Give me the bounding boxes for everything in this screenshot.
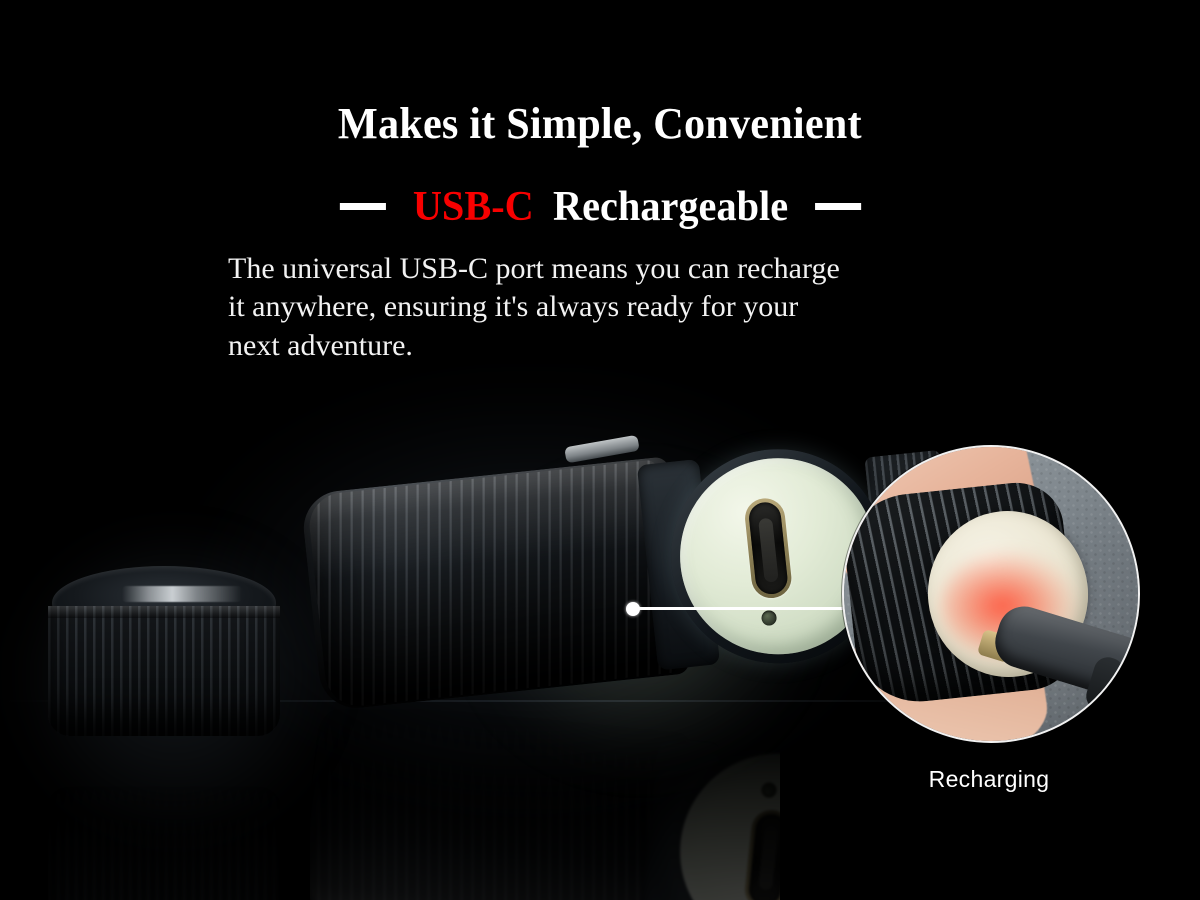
inset-caption: Recharging <box>842 766 1136 793</box>
callout-line <box>638 607 864 610</box>
body-copy-line-1: The universal USB-C port means you can r… <box>228 250 1038 288</box>
flashlight-ribs <box>306 459 678 709</box>
product-feature-banner: Makes it Simple, Convenient USB-C Rechar… <box>0 0 1200 900</box>
flashlight-tailcap <box>48 566 280 762</box>
body-copy-line-3: next adventure. <box>228 327 1038 365</box>
tailcap-engraving <box>122 586 242 602</box>
headline-highlight-usbc: USB-C <box>412 186 533 228</box>
tailcap-knurling <box>48 606 280 736</box>
decorative-dash-right <box>815 203 861 210</box>
usb-c-port-cavity <box>748 501 789 596</box>
body-copy: The universal USB-C port means you can r… <box>228 250 1038 365</box>
headline-primary-text: Makes it Simple, Convenient <box>338 98 862 149</box>
usb-c-port-tongue <box>758 518 779 583</box>
headline-secondary-text: Rechargeable <box>553 186 788 228</box>
headline-primary: Makes it Simple, Convenient <box>0 98 1200 149</box>
cap-reflection <box>48 762 280 900</box>
body-copy-line-2: it anywhere, ensuring it's always ready … <box>228 288 1038 326</box>
pocket-clip <box>564 435 640 464</box>
tailcap-band <box>48 606 280 618</box>
decorative-dash-left <box>339 203 385 210</box>
flashlight-body <box>298 428 794 746</box>
recharging-inset-photo <box>842 445 1140 743</box>
headline-secondary: USB-C Rechargeable <box>0 176 1200 228</box>
